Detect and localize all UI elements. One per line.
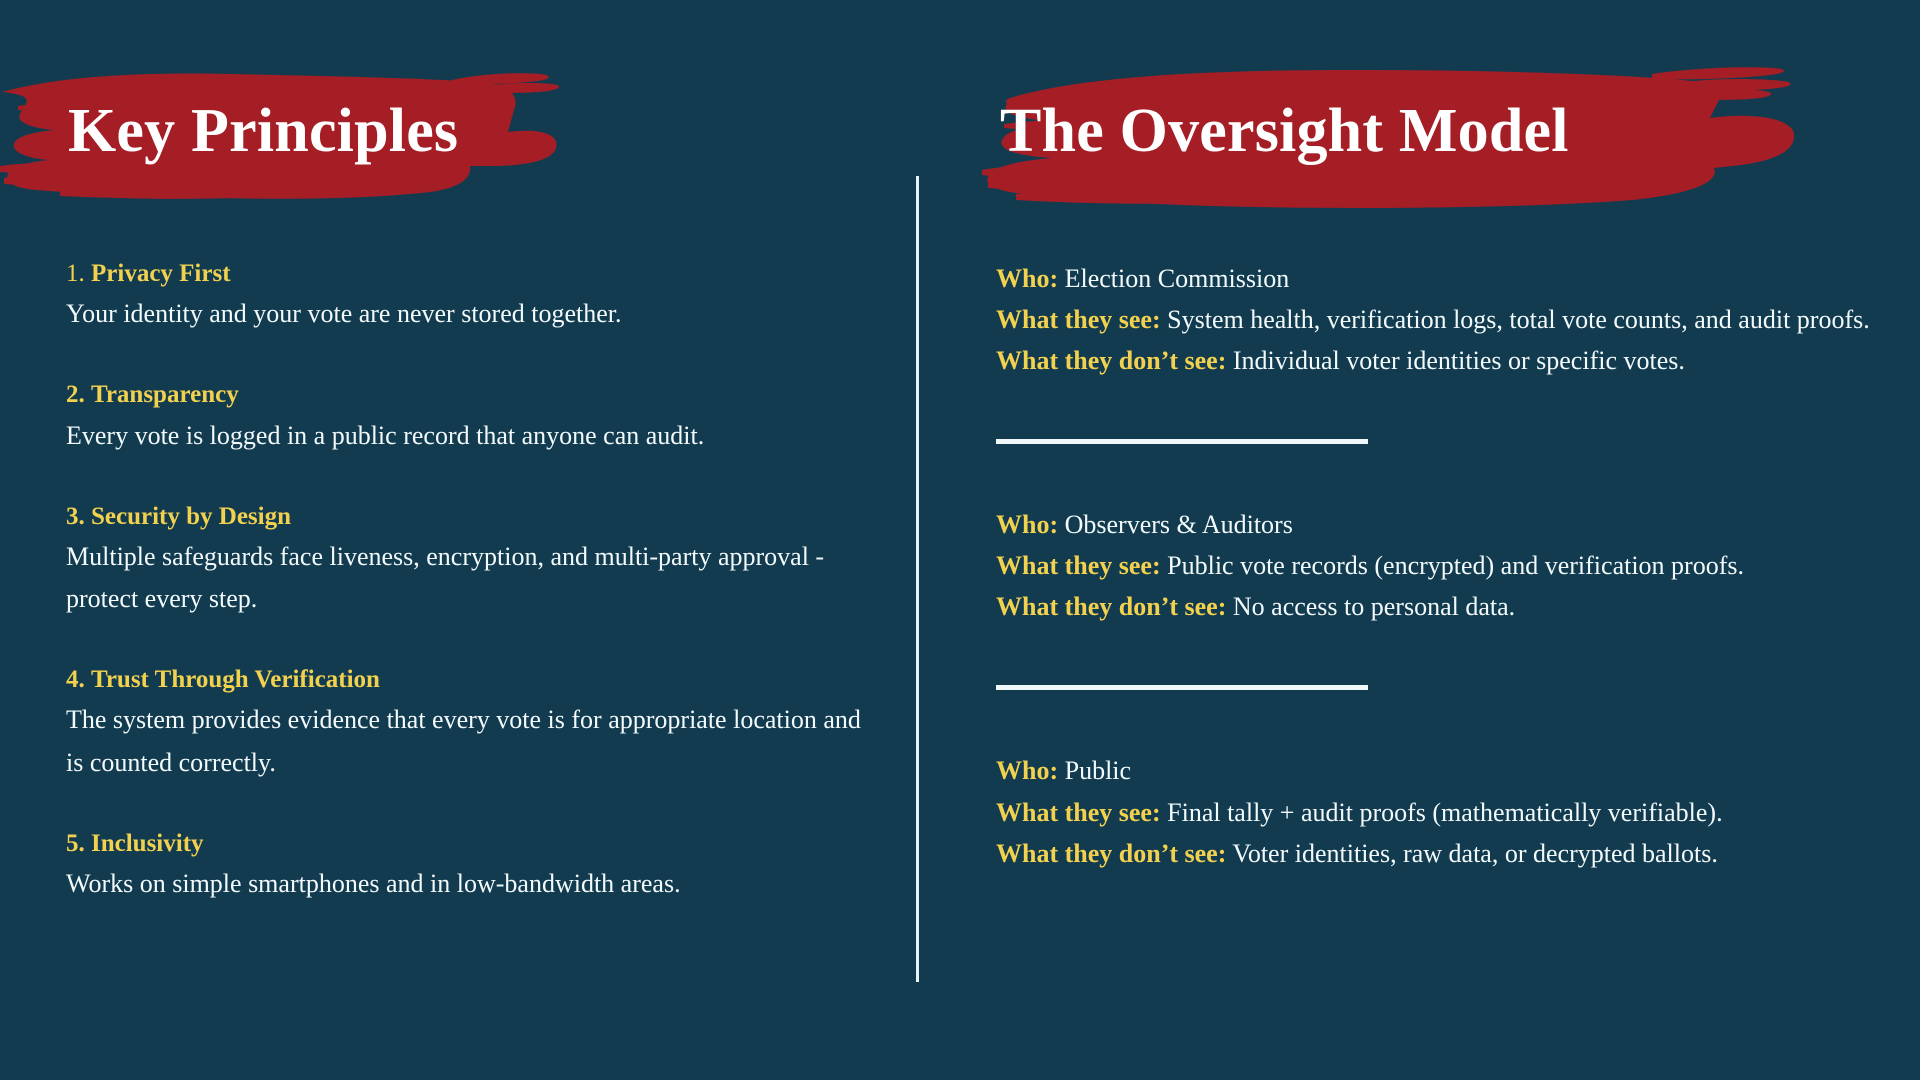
principle-number: 5. <box>66 830 85 857</box>
oversight-dont-see-label: What they don’t see: <box>996 346 1226 375</box>
oversight-who-row: Who: Election Commission <box>996 258 1876 299</box>
oversight-who-value: Observers & Auditors <box>1065 510 1293 539</box>
principle-heading: 4. Trust Through Verification <box>66 664 876 695</box>
column-divider <box>916 176 919 982</box>
oversight-see-value: Final tally + audit proofs (mathematical… <box>1167 798 1722 827</box>
oversight-see-label: What they see: <box>996 551 1161 580</box>
oversight-dont-see-row: What they don’t see: No access to person… <box>996 586 1876 627</box>
oversight-block-divider <box>996 685 1368 690</box>
principle-title: Transparency <box>91 381 239 408</box>
principle-item: 3. Security by Design Multiple safeguard… <box>66 501 876 620</box>
oversight-dont-see-value: Individual voter identities or specific … <box>1233 346 1685 375</box>
principle-title: Inclusivity <box>91 830 204 857</box>
key-principles-list: 1. Privacy First Your identity and your … <box>66 258 876 905</box>
left-page-title: Key Principles <box>68 100 600 162</box>
principle-heading: 2. Transparency <box>66 379 876 410</box>
principle-body: Works on simple smartphones and in low-b… <box>66 863 876 905</box>
oversight-see-label: What they see: <box>996 798 1161 827</box>
left-title-banner: Key Principles <box>0 62 600 202</box>
oversight-block: Who: Election Commission What they see: … <box>996 258 1876 381</box>
oversight-who-label: Who: <box>996 264 1058 293</box>
principle-heading: 3. Security by Design <box>66 501 876 532</box>
principle-number: 4. <box>66 666 85 693</box>
oversight-who-row: Who: Observers & Auditors <box>996 504 1876 545</box>
principle-body: Every vote is logged in a public record … <box>66 415 876 457</box>
principle-body: Multiple safeguards face liveness, encry… <box>66 536 876 620</box>
slide-root: Key Principles The Oversight Model <box>0 0 1920 1080</box>
principle-title: Privacy First <box>91 260 231 287</box>
principle-item: 4. Trust Through Verification The system… <box>66 664 876 783</box>
right-title-banner: The Oversight Model <box>952 62 1812 210</box>
oversight-dont-see-value: No access to personal data. <box>1233 592 1515 621</box>
principle-heading: 1. Privacy First <box>66 258 876 289</box>
principle-number: 2. <box>66 381 85 408</box>
oversight-see-row: What they see: System health, verificati… <box>996 299 1876 340</box>
principle-item: 2. Transparency Every vote is logged in … <box>66 379 876 456</box>
oversight-who-label: Who: <box>996 756 1058 785</box>
oversight-model-list: Who: Election Commission What they see: … <box>996 258 1876 874</box>
oversight-dont-see-value: Voter identities, raw data, or decrypted… <box>1232 839 1717 868</box>
oversight-see-value: System health, verification logs, total … <box>1167 305 1870 334</box>
oversight-who-value: Public <box>1065 756 1131 785</box>
principle-body: The system provides evidence that every … <box>66 699 876 783</box>
principle-item: 5. Inclusivity Works on simple smartphon… <box>66 828 876 905</box>
oversight-who-label: Who: <box>996 510 1058 539</box>
oversight-block: Who: Public What they see: Final tally +… <box>996 750 1876 873</box>
oversight-who-value: Election Commission <box>1065 264 1290 293</box>
oversight-block-divider <box>996 439 1368 444</box>
oversight-see-label: What they see: <box>996 305 1161 334</box>
oversight-see-row: What they see: Public vote records (encr… <box>996 545 1876 586</box>
oversight-see-row: What they see: Final tally + audit proof… <box>996 792 1876 833</box>
principle-number: 1. <box>66 260 85 287</box>
principle-title: Security by Design <box>91 503 291 530</box>
oversight-dont-see-label: What they don’t see: <box>996 592 1226 621</box>
oversight-dont-see-label: What they don’t see: <box>996 839 1226 868</box>
oversight-see-value: Public vote records (encrypted) and veri… <box>1167 551 1744 580</box>
principle-number: 3. <box>66 503 85 530</box>
principle-item: 1. Privacy First Your identity and your … <box>66 258 876 335</box>
oversight-who-row: Who: Public <box>996 750 1876 791</box>
oversight-block: Who: Observers & Auditors What they see:… <box>996 504 1876 627</box>
principle-body: Your identity and your vote are never st… <box>66 293 876 335</box>
oversight-dont-see-row: What they don’t see: Individual voter id… <box>996 340 1876 381</box>
principle-heading: 5. Inclusivity <box>66 828 876 859</box>
oversight-dont-see-row: What they don’t see: Voter identities, r… <box>996 833 1876 874</box>
right-page-title: The Oversight Model <box>1000 100 1812 162</box>
principle-title: Trust Through Verification <box>91 666 380 693</box>
